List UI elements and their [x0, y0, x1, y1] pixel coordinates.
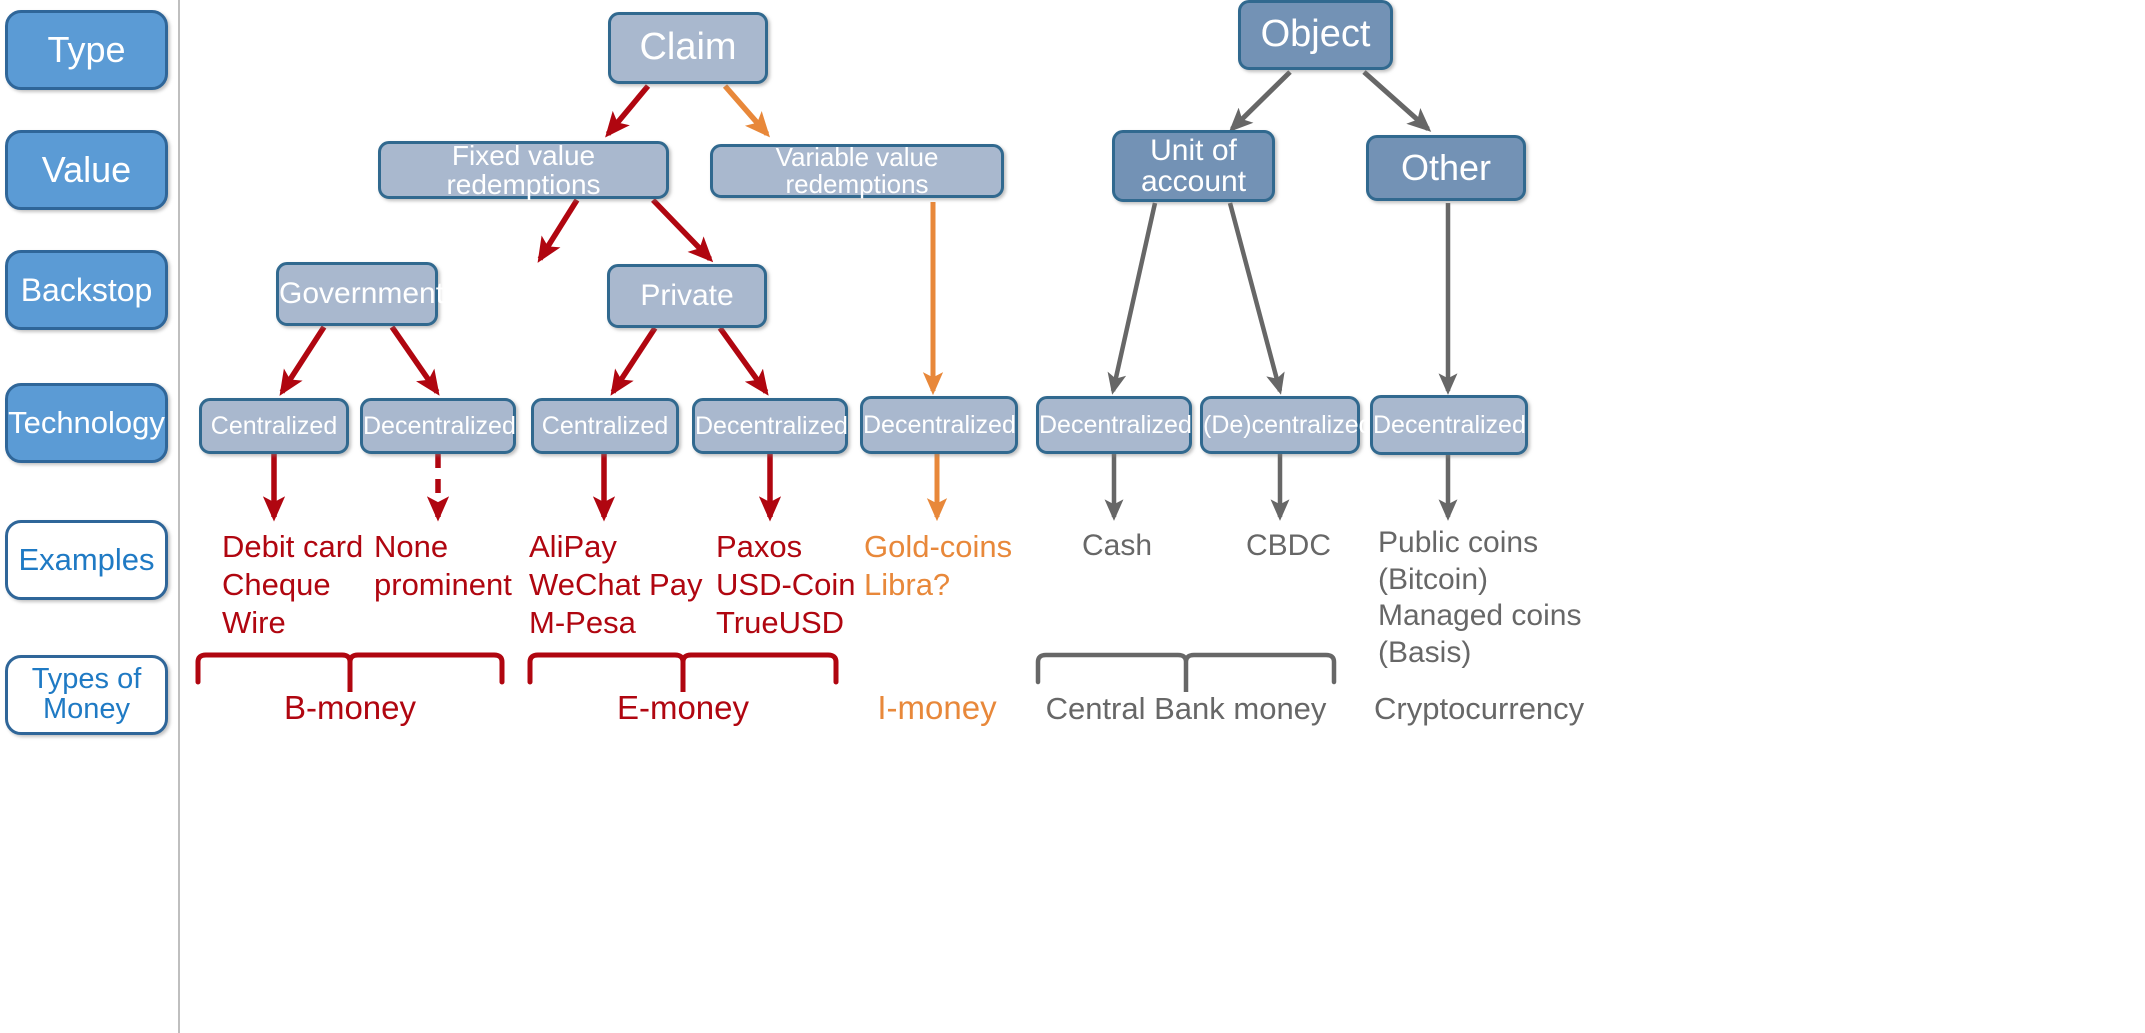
type-of-money-e-money: E-money [588, 690, 778, 726]
category-label-text: Value [8, 152, 165, 189]
category-label-examples: Examples [5, 520, 168, 600]
category-label-types-of-money: Types of Money [5, 655, 168, 735]
example-cash: Cash [1082, 528, 1232, 565]
node-label: Decentralized [1039, 412, 1189, 438]
node-label: Centralized [202, 413, 346, 439]
node-other[interactable]: Other [1366, 135, 1526, 201]
node-label: Government [279, 278, 435, 310]
node-label: Decentralized [363, 413, 513, 439]
node-tech-other-decentralized[interactable]: Decentralized [1370, 395, 1528, 455]
connector-layer [0, 0, 2145, 1033]
node-tech-government-decentralized[interactable]: Decentralized [360, 398, 516, 454]
node-label: Claim [611, 28, 765, 68]
category-label-text: Examples [8, 544, 165, 576]
node-claim[interactable]: Claim [608, 12, 768, 84]
example-cryptocurrency: Public coins (Bitcoin) Managed coins (Ba… [1378, 525, 1598, 671]
column-divider [178, 0, 180, 1033]
node-label: Decentralized [695, 413, 845, 439]
category-label-text: Type [8, 32, 165, 69]
node-tech-government-centralized[interactable]: Centralized [199, 398, 349, 454]
category-label-text: Types of Money [8, 665, 165, 724]
category-label-text: Backstop [8, 274, 165, 307]
node-label: Private [610, 280, 764, 312]
node-tech-variable-decentralized[interactable]: Decentralized [860, 396, 1018, 454]
node-label: Decentralized [1373, 412, 1525, 438]
diagram-canvas: Type Value Backstop Technology Examples … [0, 0, 2145, 1033]
node-label: Fixed value redemptions [381, 141, 666, 200]
node-private[interactable]: Private [607, 264, 767, 328]
node-object[interactable]: Object [1238, 0, 1393, 70]
type-of-money-cryptocurrency: Cryptocurrency [1374, 692, 1614, 726]
node-label: Object [1241, 15, 1390, 55]
node-tech-private-centralized[interactable]: Centralized [531, 398, 679, 454]
node-label: Other [1369, 149, 1523, 187]
example-i-money: Gold-coins Libra? [864, 528, 1064, 604]
node-label: (De)centralized [1203, 412, 1357, 438]
node-label: Unit of account [1115, 135, 1272, 198]
type-of-money-i-money: I-money [842, 690, 1032, 726]
category-label-value: Value [5, 130, 168, 210]
node-label: Centralized [534, 413, 676, 439]
category-label-text: Technology [8, 407, 165, 439]
category-label-backstop: Backstop [5, 250, 168, 330]
node-label: Decentralized [863, 412, 1015, 438]
node-fixed-value-redemptions[interactable]: Fixed value redemptions [378, 141, 669, 199]
node-variable-value-redemptions[interactable]: Variable value redemptions [710, 144, 1004, 198]
example-cbdc: CBDC [1246, 528, 1396, 565]
type-of-money-b-money: B-money [255, 690, 445, 726]
node-tech-private-decentralized[interactable]: Decentralized [692, 398, 848, 454]
type-of-money-central-bank-money: Central Bank money [1041, 692, 1331, 726]
node-government[interactable]: Government [276, 262, 438, 326]
node-unit-of-account[interactable]: Unit of account [1112, 130, 1275, 202]
category-label-technology: Technology [5, 383, 168, 463]
node-tech-unit-of-account-de-centralized[interactable]: (De)centralized [1200, 396, 1360, 454]
node-tech-unit-of-account-decentralized[interactable]: Decentralized [1036, 396, 1192, 454]
example-e-money-centralized: AliPay WeChat Pay M-Pesa [529, 528, 744, 641]
category-label-type: Type [5, 10, 168, 90]
node-label: Variable value redemptions [713, 144, 1001, 199]
